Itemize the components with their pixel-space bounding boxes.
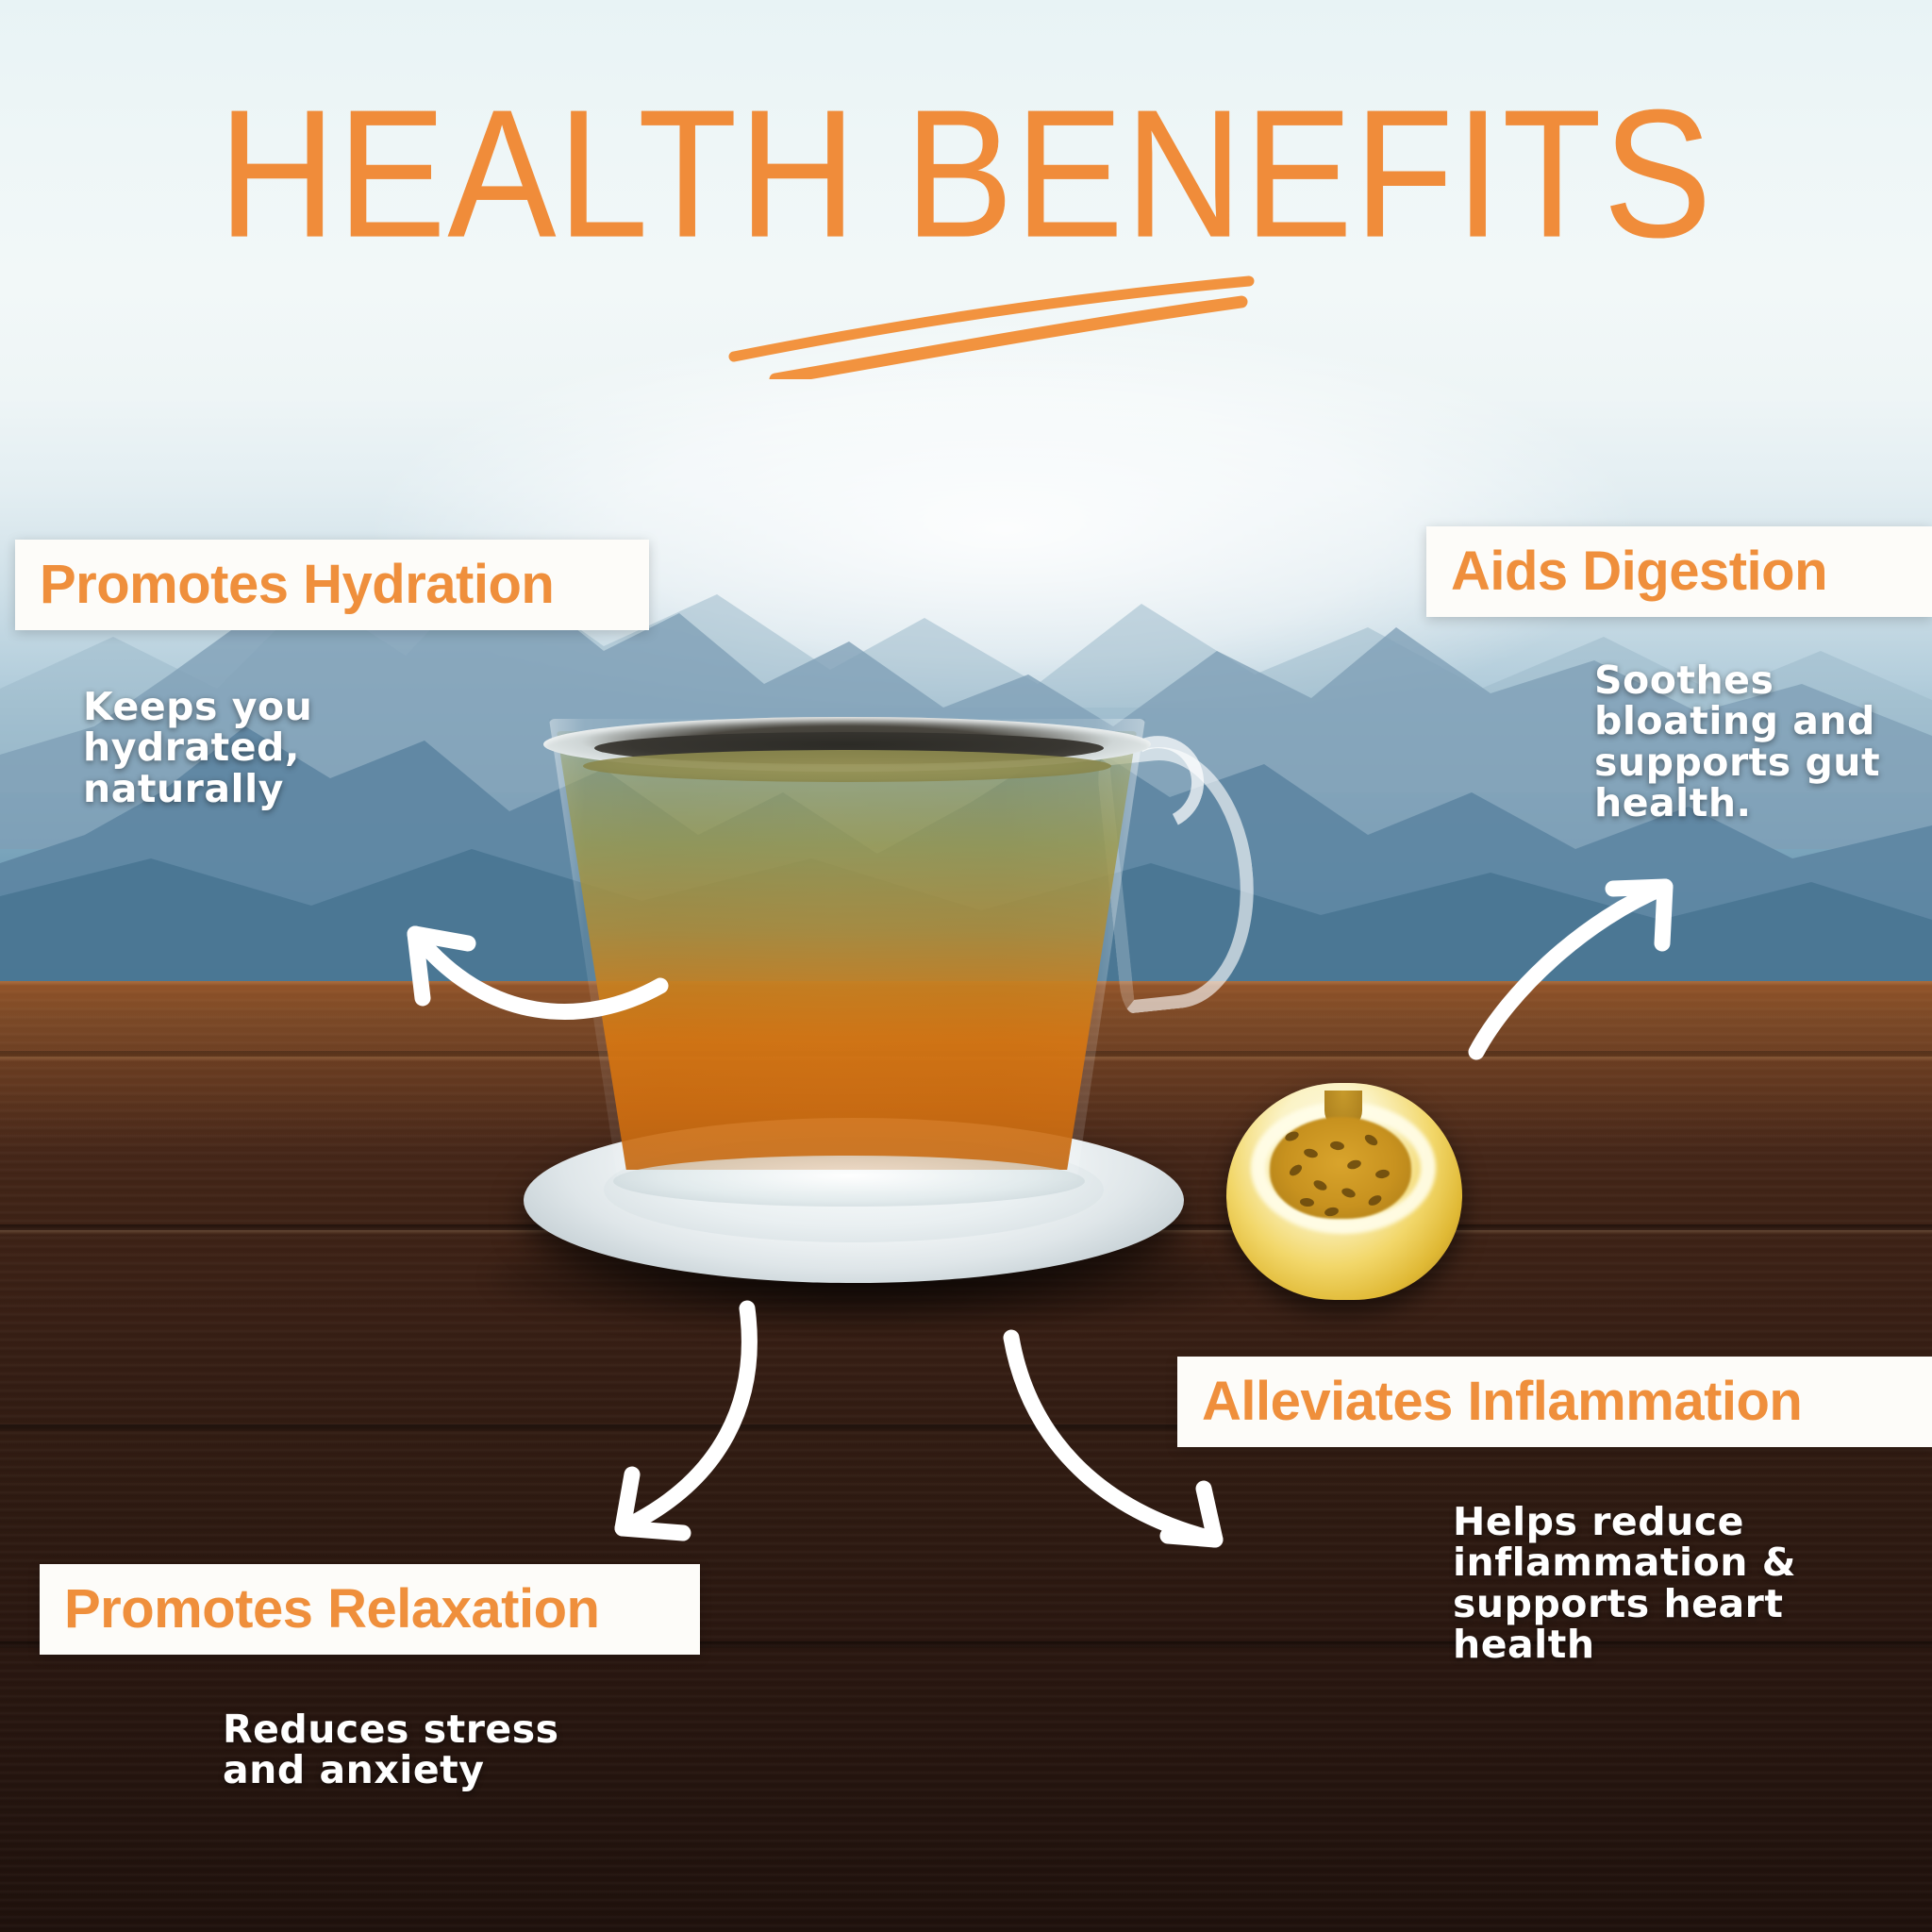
benefit-label-promotes-relaxation[interactable]: Promotes Relaxation [40,1564,700,1655]
benefit-caption-promotes-relaxation: Reduces stress and anxiety [223,1709,600,1791]
benefit-label-text: Promotes Relaxation [64,1582,599,1637]
benefit-caption-aids-digestion: Soothes bloating and supports gut health… [1594,660,1906,824]
benefit-caption-promotes-hydration: Keeps you hydrated, naturally [83,687,517,809]
page-title: HEALTH BENEFITS [0,83,1932,265]
cup-base [613,1156,1085,1207]
benefit-label-promotes-hydration[interactable]: Promotes Hydration [15,540,649,630]
benefit-label-aids-digestion[interactable]: Aids Digestion [1426,526,1932,617]
benefit-label-alleviates-inflammation[interactable]: Alleviates Inflammation [1177,1357,1932,1447]
benefit-label-text: Alleviates Inflammation [1202,1374,1802,1429]
tea-surface [583,750,1111,782]
halved-fruit [1226,1083,1462,1300]
benefit-label-text: Promotes Hydration [40,558,554,612]
benefit-label-text: Aids Digestion [1451,544,1827,599]
benefit-caption-alleviates-inflammation: Helps reduce inflammation & supports hea… [1453,1502,1849,1666]
infographic-poster: HEALTH BENEFITS Promotes Hydration Keeps… [0,0,1932,1932]
tea-liquid [557,731,1137,1170]
